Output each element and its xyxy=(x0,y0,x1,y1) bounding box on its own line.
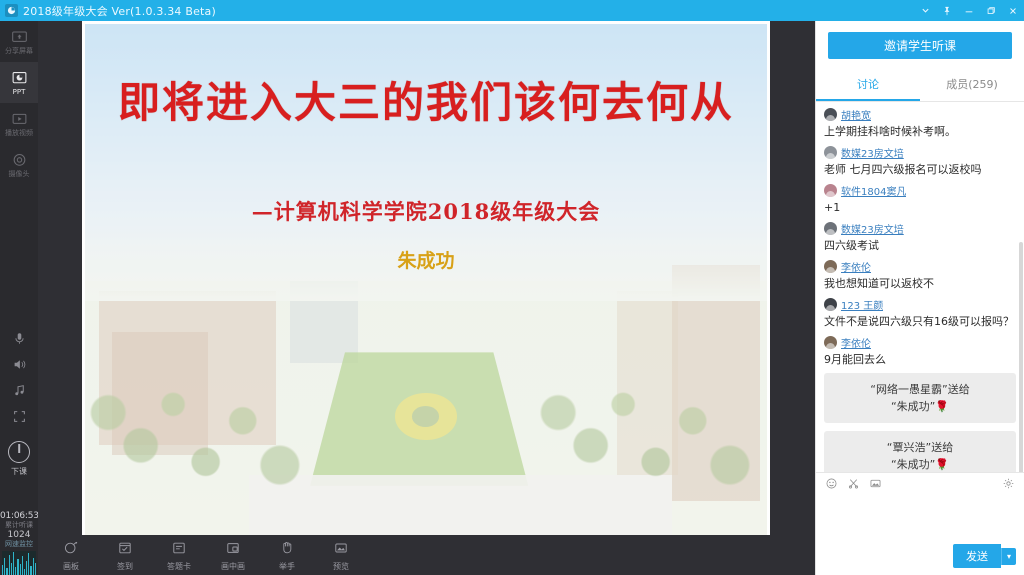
slide-title: 即将进入大三的我们该何去何从 xyxy=(85,69,767,130)
message-text: 我也想知道可以返校不 xyxy=(824,276,1016,291)
avatar xyxy=(824,108,837,121)
ppt-icon xyxy=(11,70,28,87)
checkin-button[interactable]: 签到 xyxy=(98,535,152,575)
list-item: 软件1804窦凡 +1 xyxy=(824,183,1016,215)
message-composer: 发送 ▾ xyxy=(816,472,1024,575)
app-logo-icon xyxy=(5,4,18,17)
gift-recipient: “朱成功” xyxy=(891,458,935,471)
picture-in-picture-button[interactable]: 画中画 xyxy=(206,535,260,575)
avatar xyxy=(824,146,837,159)
audio-waveform xyxy=(2,551,36,575)
message-header: 李依伦 xyxy=(824,259,1016,274)
tool-label: 画中画 xyxy=(221,562,245,571)
slide-subtitle: —计算机科学学院2018级年级大会 xyxy=(85,196,767,226)
microphone-icon[interactable] xyxy=(0,325,38,351)
message-author[interactable]: 数媒23房文培 xyxy=(841,221,904,236)
window-title: 2018级年级大会 Ver(1.0.3.34 Beta) xyxy=(23,3,216,19)
image-icon[interactable] xyxy=(869,475,882,494)
gift-recipient-row: “朱成功”🌹 xyxy=(830,398,1010,415)
message-author[interactable]: 胡艳宽 xyxy=(841,107,871,122)
sidebar-item-camera[interactable]: 摄像头 xyxy=(0,144,38,185)
avatar xyxy=(824,260,837,273)
message-text: 上学期挂科啥时候补考啊。 xyxy=(824,124,1016,139)
list-item: 胡艳宽 上学期挂科啥时候补考啊。 xyxy=(824,107,1016,139)
rose-icon: 🌹 xyxy=(935,458,949,471)
raise-hand-icon xyxy=(279,540,295,560)
send-button[interactable]: 发送 xyxy=(953,544,1001,568)
left-rail: 分享屏幕 PPT 播放视频 摄像头 xyxy=(0,21,38,575)
emoji-icon[interactable] xyxy=(825,475,838,494)
message-author[interactable]: 123 王颜 xyxy=(841,297,883,312)
checkin-icon xyxy=(117,540,133,560)
preview-icon xyxy=(333,540,349,560)
message-author[interactable]: 李依伦 xyxy=(841,335,871,350)
close-icon[interactable] xyxy=(1002,0,1024,21)
gift-recipient: “朱成功” xyxy=(891,400,935,413)
bottom-toolbar: 画板 签到 答题卡 画中画 举手 xyxy=(38,535,815,575)
end-class-label: 下课 xyxy=(11,466,27,477)
message-text: 9月能回去么 xyxy=(824,352,1016,367)
rose-icon: 🌹 xyxy=(935,400,949,413)
message-text: 四六级考试 xyxy=(824,238,1016,253)
power-off-icon xyxy=(8,441,30,463)
message-input[interactable] xyxy=(816,495,1024,541)
send-controls: 发送 ▾ xyxy=(953,544,1016,568)
message-header: 数媒23房文培 xyxy=(824,221,1016,236)
presentation-stage: 即将进入大三的我们该何去何从 —计算机科学学院2018级年级大会 朱成功 xyxy=(38,21,815,575)
slide-frame[interactable]: 即将进入大三的我们该何去何从 —计算机科学学院2018级年级大会 朱成功 xyxy=(82,21,770,540)
gear-icon[interactable] xyxy=(1002,475,1015,494)
minimize-icon[interactable] xyxy=(958,0,980,21)
list-item: 123 王颜 文件不是说四六级只有16级可以报吗？ xyxy=(824,297,1016,329)
session-stats: 01:06:53 累计听课 1024 网速监控 xyxy=(0,511,38,549)
gift-sender: “覃兴浩”送给 xyxy=(830,439,1010,456)
tool-label: 签到 xyxy=(117,562,133,571)
raise-hand-button[interactable]: 举手 xyxy=(260,535,314,575)
camera-icon xyxy=(11,152,28,169)
list-item: 李依伦 9月能回去么 xyxy=(824,335,1016,367)
sidebar-item-share-screen[interactable]: 分享屏幕 xyxy=(0,21,38,62)
elapsed-time: 01:06:53 xyxy=(0,511,38,521)
invite-students-button[interactable]: 邀请学生听课 xyxy=(828,32,1012,59)
window-controls xyxy=(914,0,1024,21)
answer-card-icon xyxy=(171,540,187,560)
message-header: 李依伦 xyxy=(824,335,1016,350)
message-header: 数媒23房文培 xyxy=(824,145,1016,160)
sidebar-item-play-video[interactable]: 播放视频 xyxy=(0,103,38,144)
cumulative-value: 1024 xyxy=(0,530,38,540)
sidebar-item-label: PPT xyxy=(13,88,26,96)
chat-panel: 邀请学生听课 讨论 成员(259) 胡艳宽 上学期挂科啥时候补考啊。 数媒23房… xyxy=(815,21,1024,575)
end-class-button[interactable]: 下课 xyxy=(0,441,38,477)
list-item: 李依伦 我也想知道可以返校不 xyxy=(824,259,1016,291)
sidebar-item-label: 播放视频 xyxy=(5,129,33,137)
dropdown-icon[interactable] xyxy=(914,0,936,21)
message-header: 胡艳宽 xyxy=(824,107,1016,122)
scissors-icon[interactable] xyxy=(847,475,860,494)
answer-card-button[interactable]: 答题卡 xyxy=(152,535,206,575)
title-bar: 2018级年级大会 Ver(1.0.3.34 Beta) xyxy=(0,0,1024,21)
list-item: 数媒23房文培 四六级考试 xyxy=(824,221,1016,253)
message-text: 老师 七月四六级报名可以返校吗 xyxy=(824,162,1016,177)
tool-label: 预览 xyxy=(333,562,349,571)
tab-members[interactable]: 成员(259) xyxy=(920,70,1024,101)
message-text: 文件不是说四六级只有16级可以报吗？ xyxy=(824,314,1016,329)
tab-discussion[interactable]: 讨论 xyxy=(816,70,920,101)
message-header: 123 王颜 xyxy=(824,297,1016,312)
panel-tabs: 讨论 成员(259) xyxy=(816,70,1024,102)
sidebar-item-ppt[interactable]: PPT xyxy=(0,62,38,103)
bandwidth-label: 网速监控 xyxy=(0,540,38,549)
gift-message: “网络一愚星霸”送给 “朱成功”🌹 xyxy=(824,373,1016,423)
tool-label: 举手 xyxy=(279,562,295,571)
slide-canvas: 即将进入大三的我们该何去何从 —计算机科学学院2018级年级大会 朱成功 xyxy=(85,24,767,537)
avatar xyxy=(824,222,837,235)
pin-icon[interactable] xyxy=(936,0,958,21)
sidebar-item-label: 分享屏幕 xyxy=(5,47,33,55)
avatar xyxy=(824,298,837,311)
avatar xyxy=(824,184,837,197)
message-list[interactable]: 胡艳宽 上学期挂科啥时候补考啊。 数媒23房文培 老师 七月四六级报名可以返校吗… xyxy=(816,102,1024,472)
music-icon[interactable] xyxy=(0,377,38,403)
message-author[interactable]: 数媒23房文培 xyxy=(841,145,904,160)
app-window: 2018级年级大会 Ver(1.0.3.34 Beta) 分 xyxy=(0,0,1024,575)
play-video-icon xyxy=(11,111,28,128)
gift-recipient-row: “朱成功”🌹 xyxy=(830,456,1010,472)
message-header: 软件1804窦凡 xyxy=(824,183,1016,198)
list-item: 数媒23房文培 老师 七月四六级报名可以返校吗 xyxy=(824,145,1016,177)
speaker-icon[interactable] xyxy=(0,351,38,377)
whiteboard-button[interactable]: 画板 xyxy=(44,535,98,575)
fullscreen-icon[interactable] xyxy=(0,403,38,429)
message-author[interactable]: 软件1804窦凡 xyxy=(841,183,906,198)
avatar xyxy=(824,336,837,349)
maximize-icon[interactable] xyxy=(980,0,1002,21)
gift-message: “覃兴浩”送给 “朱成功”🌹 xyxy=(824,431,1016,472)
message-author[interactable]: 李依伦 xyxy=(841,259,871,274)
picture-in-picture-icon xyxy=(225,540,241,560)
message-text: +1 xyxy=(824,200,1016,215)
composer-toolbar xyxy=(816,473,1024,495)
share-screen-icon xyxy=(11,29,28,46)
send-options-caret-icon[interactable]: ▾ xyxy=(1001,548,1016,565)
sidebar-item-label: 摄像头 xyxy=(9,170,30,178)
tool-label: 答题卡 xyxy=(167,562,191,571)
slide-author: 朱成功 xyxy=(85,246,767,273)
tool-label: 画板 xyxy=(63,562,79,571)
message-scrollbar[interactable] xyxy=(1019,242,1023,472)
cumulative-label: 累计听课 xyxy=(0,521,38,530)
whiteboard-icon xyxy=(63,540,79,560)
preview-button[interactable]: 预览 xyxy=(314,535,368,575)
gift-sender: “网络一愚星霸”送给 xyxy=(830,381,1010,398)
